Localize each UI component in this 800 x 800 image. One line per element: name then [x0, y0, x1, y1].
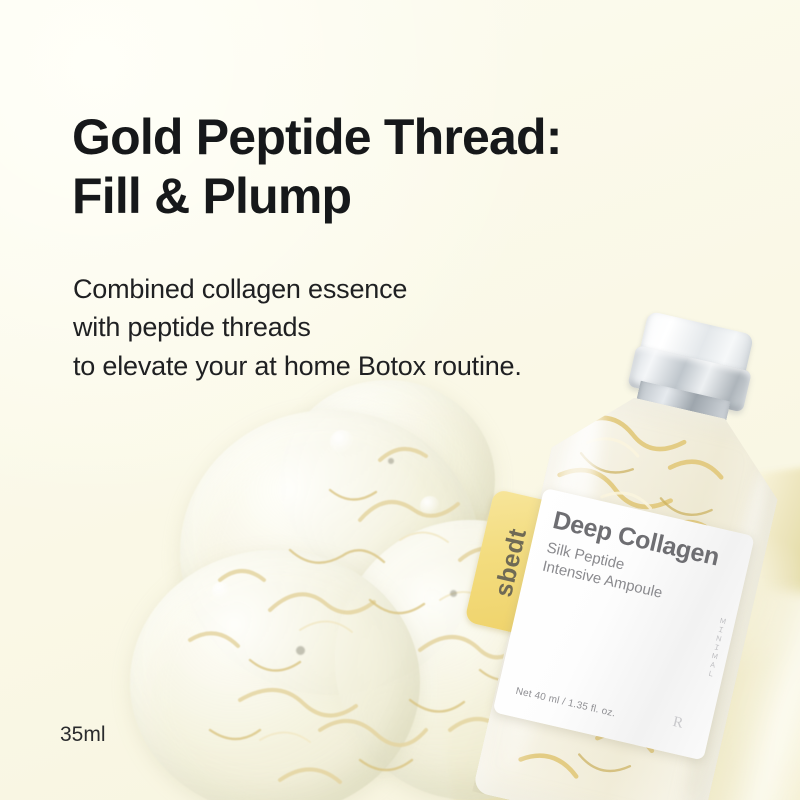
subcopy-line-1: Combined collagen essence [73, 270, 713, 308]
volume-note: 35ml [60, 723, 106, 747]
gel-highlight [330, 430, 354, 454]
gel-speck [388, 458, 394, 464]
product-banner: sbedt Deep Collagen Silk Peptide Intensi… [0, 0, 800, 800]
gel-speck [296, 646, 305, 655]
gel-highlight [212, 582, 230, 600]
gel-highlight [420, 496, 440, 516]
subcopy-line-3: to elevate your at home Botox routine. [73, 347, 713, 385]
page-title: Gold Peptide Thread: Fill & Plump [72, 108, 712, 225]
subcopy-line-2: with peptide threads [73, 308, 713, 346]
headline-line-2: Fill & Plump [72, 167, 712, 226]
gel-speck [450, 590, 457, 597]
headline-line-1: Gold Peptide Thread: [72, 108, 712, 167]
label-net-content: Net 40 ml / 1.35 fl. oz. [515, 686, 617, 720]
subcopy: Combined collagen essence with peptide t… [73, 270, 713, 385]
label-serif-mark: R [671, 714, 685, 733]
